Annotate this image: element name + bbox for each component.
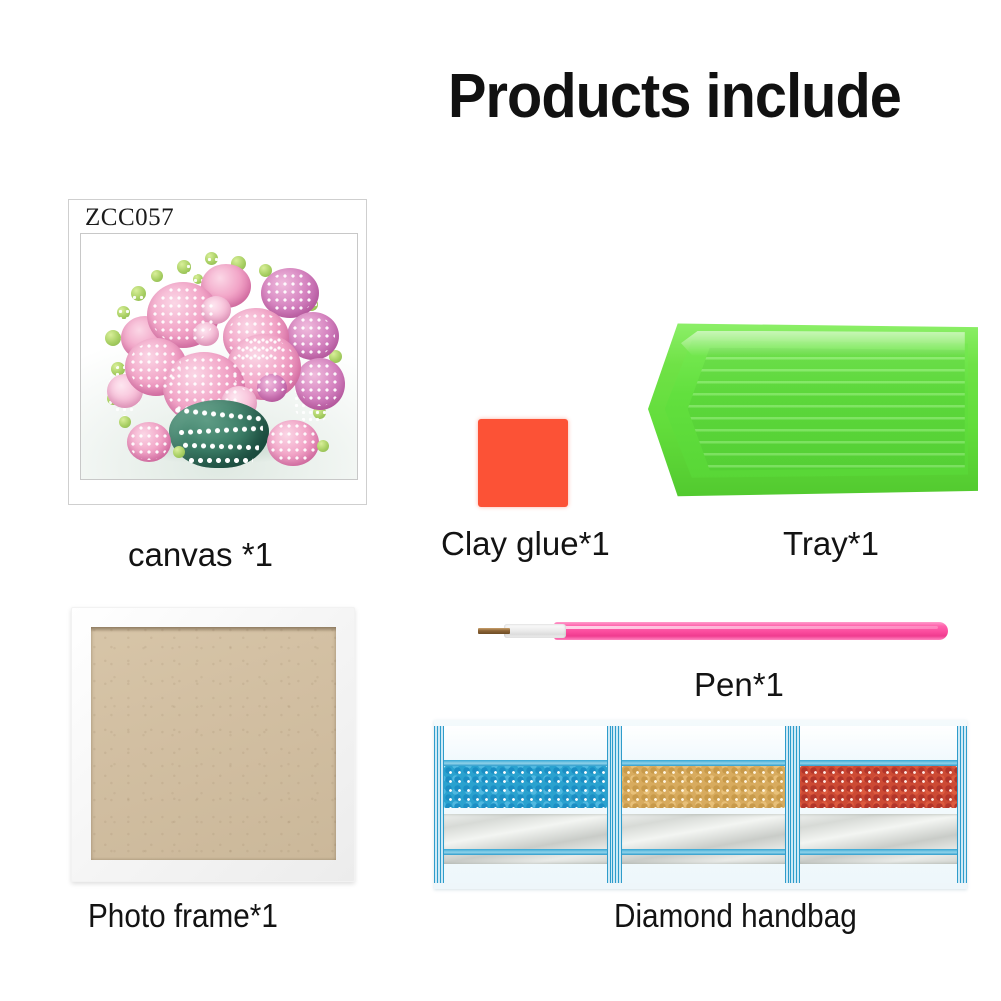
pen-barrel [554,622,948,640]
bag-seal-bottom [790,849,967,855]
gem-bag-red [790,726,967,883]
photo-frame-backing-board [91,627,336,860]
canvas-code-label: ZCC057 [85,204,174,232]
bag-edge-left [434,726,444,883]
clay-glue-product-image [478,419,568,507]
bag-edge-left [612,726,622,883]
canvas-caption: canvas *1 [128,538,273,571]
pen-grip [504,624,566,638]
photo-frame-product-image [71,607,355,882]
gem-bag-gold [612,726,795,883]
bag-gloss [434,726,617,760]
canvas-artwork [80,233,358,480]
gems-gold [622,766,785,808]
page-title: Products include [448,66,901,128]
gems-red [800,766,957,808]
bag-seal-bottom [434,849,617,855]
foil-strip [798,814,959,864]
pen-tip [478,628,510,634]
photo-frame-caption: Photo frame*1 [88,899,278,932]
foil-strip [620,814,787,864]
tray-product-image [648,320,978,498]
diamond-handbag-caption: Diamond handbag [614,899,857,932]
bag-edge-right [957,726,967,883]
canvas-product-image: ZCC057 [68,199,367,505]
tray-grooves [688,345,965,473]
bag-edge-left [790,726,800,883]
photo-frame-inner-shadow [91,627,336,632]
gems-blue [444,766,607,808]
gem-bag-blue [434,726,617,883]
tray-highlight [681,331,965,356]
foil-strip [442,814,609,864]
diamond-handbag-product-image [434,720,967,889]
bag-seal-bottom [612,849,795,855]
clay-glue-caption: Clay glue*1 [441,527,610,560]
tray-caption: Tray*1 [783,527,879,560]
bag-gloss [612,726,795,760]
bag-gloss [790,726,967,760]
pen-caption: Pen*1 [694,668,784,701]
pen-product-image [478,619,948,645]
product-infographic: Products include ZCC057 [0,0,1001,1001]
